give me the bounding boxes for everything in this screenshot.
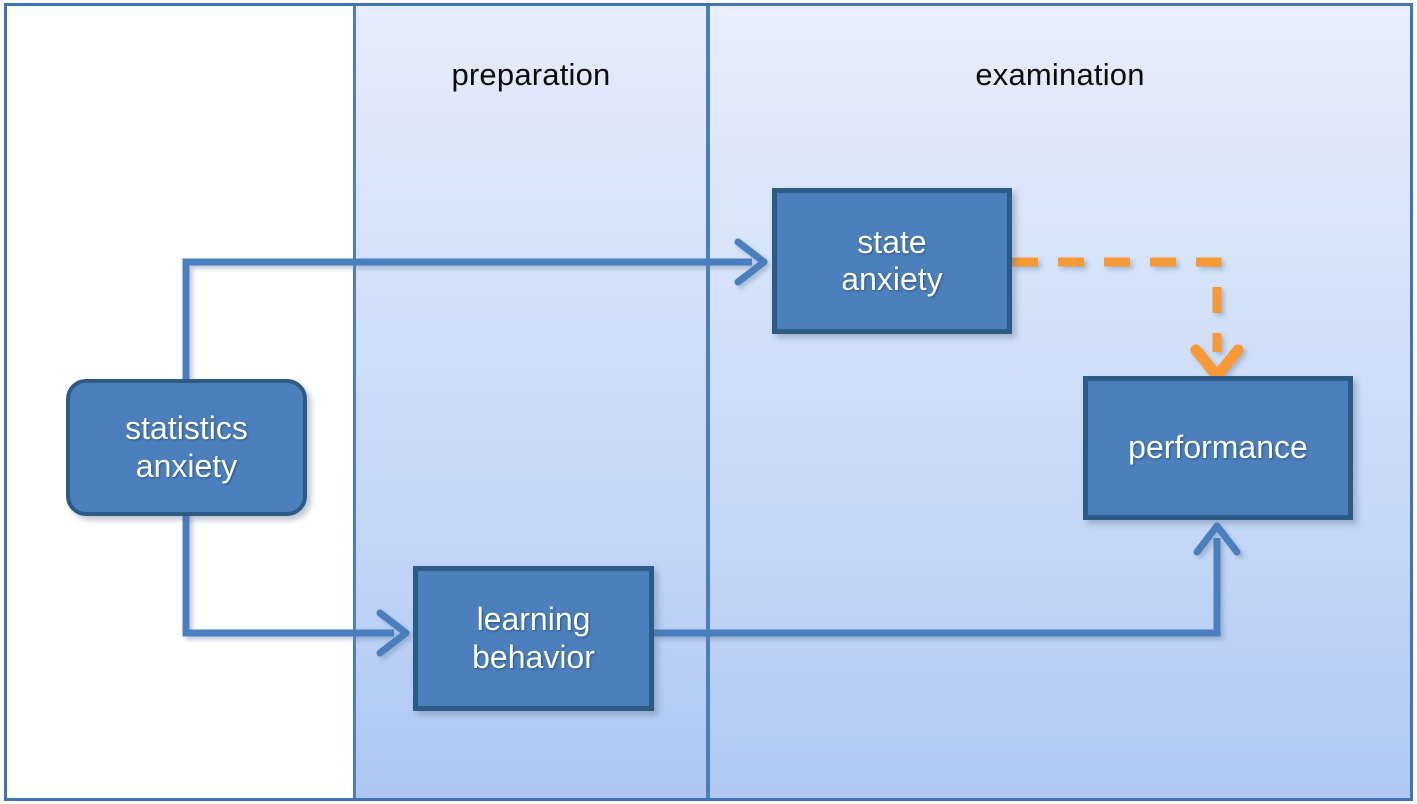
node-learning-behavior-label: learning behavior xyxy=(472,601,595,675)
node-state-anxiety[interactable]: state anxiety xyxy=(772,188,1012,334)
node-statistics-anxiety-label: statistics anxiety xyxy=(125,410,248,484)
node-statistics-anxiety[interactable]: statistics anxiety xyxy=(66,379,307,516)
edge-learning-behavior-to-performance xyxy=(654,526,1237,633)
edge-statistics-anxiety-to-learning-behavior xyxy=(186,512,406,653)
diagram-canvas: preparation examination xyxy=(0,0,1417,804)
node-performance[interactable]: performance xyxy=(1083,376,1353,520)
node-state-anxiety-label: state anxiety xyxy=(841,224,942,298)
node-performance-label: performance xyxy=(1128,429,1308,466)
edge-statistics-anxiety-to-state-anxiety xyxy=(186,242,764,383)
node-learning-behavior[interactable]: learning behavior xyxy=(413,566,654,711)
edge-state-anxiety-to-performance xyxy=(1012,262,1238,376)
